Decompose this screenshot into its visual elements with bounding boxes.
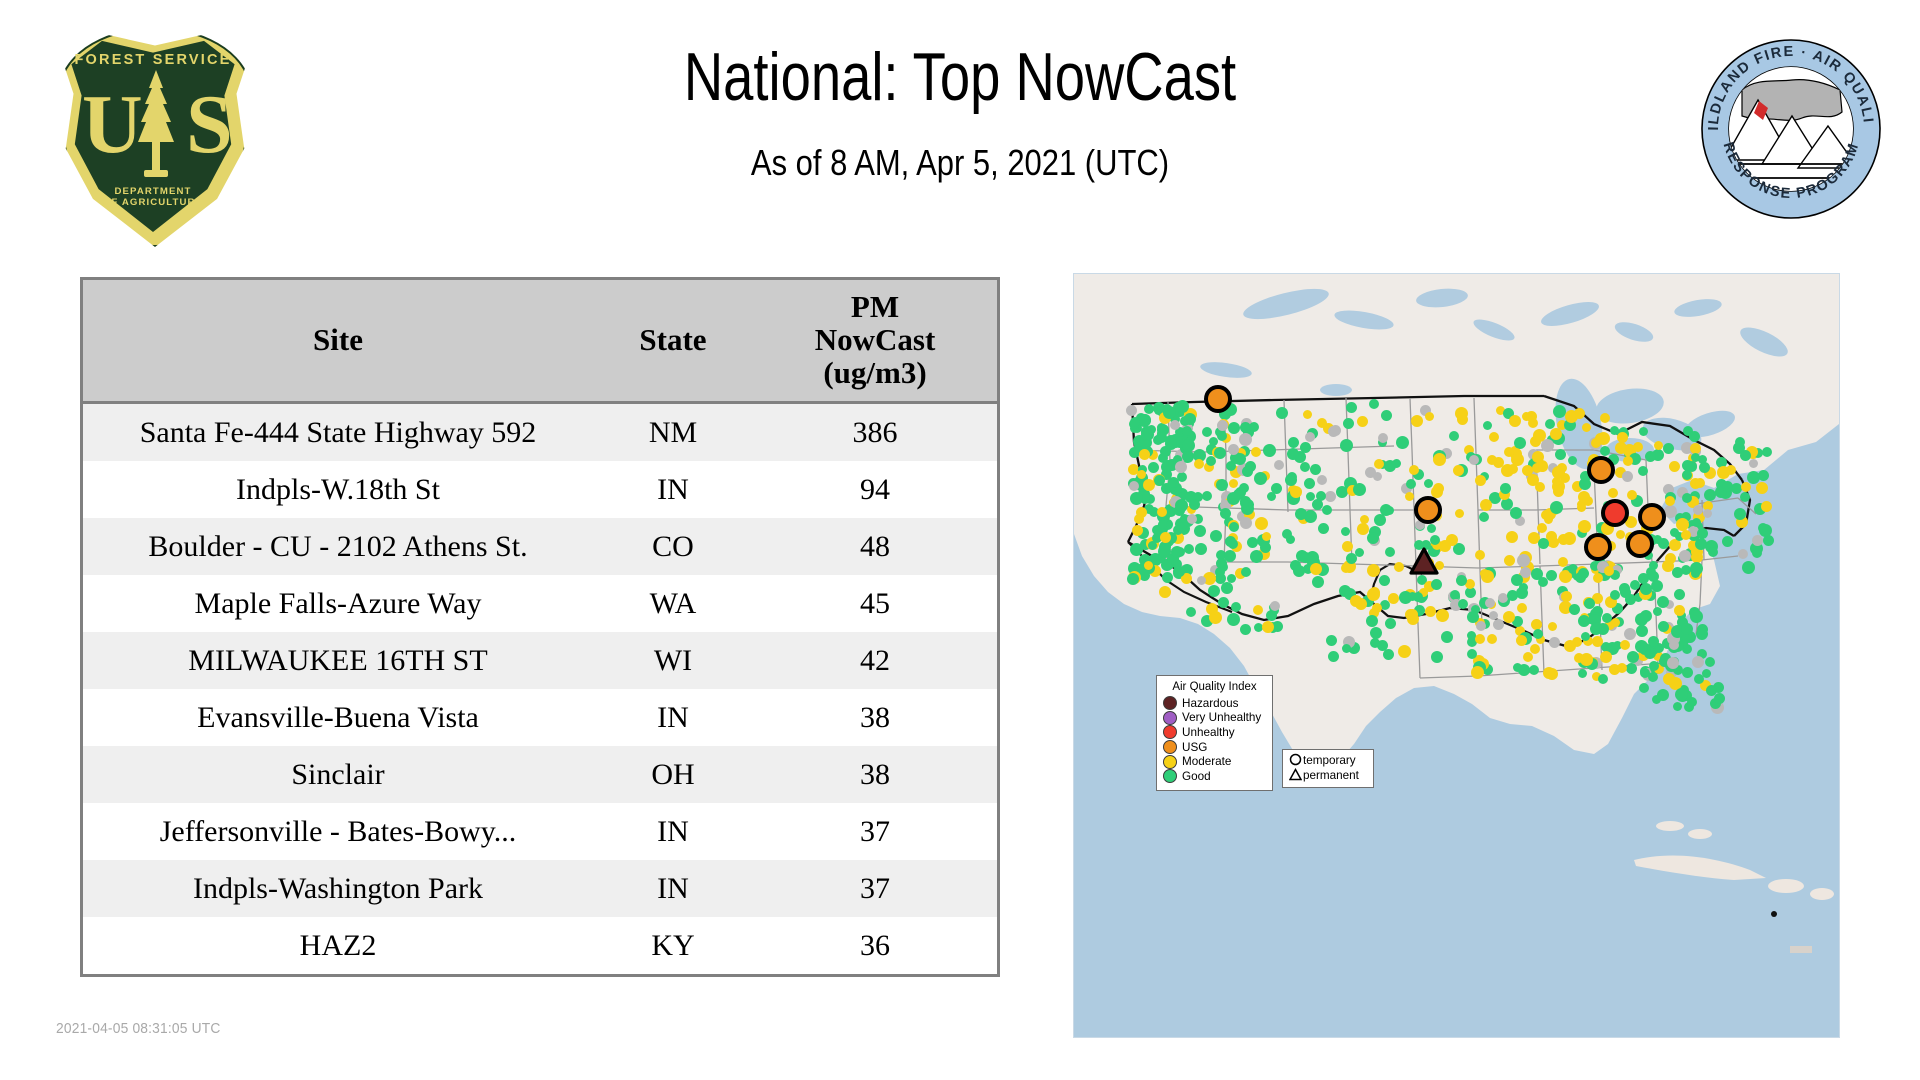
aqi-monitor-dot [1487,634,1497,644]
aqi-monitor-dot [1174,566,1185,577]
aqi-monitor-dot [1425,606,1436,617]
table-row: Jeffersonville - Bates-Bowy...IN37 [83,803,997,860]
aqi-monitor-dot [1385,618,1396,629]
aqi-monitor-dot [1227,492,1240,505]
aqi-monitor-dot [1568,456,1577,465]
aqi-monitor-dot [1187,514,1197,524]
pm-header-line-1: PM [851,289,899,324]
aqi-monitor-dot [1184,544,1194,554]
cell-site: Indpls-Washington Park [83,860,593,917]
aqi-monitor-dot [1154,475,1165,486]
aqi-monitor-dot [1197,576,1206,585]
aqi-monitor-dot [1379,575,1390,586]
aqi-legend-label: Good [1182,770,1211,783]
aqi-monitor-dot [1366,615,1378,627]
aqi-monitor-dot [1549,637,1560,648]
aqi-monitor-dot [1649,561,1658,570]
map-basemap [1074,274,1839,1037]
aqi-monitor-dot [1202,427,1212,437]
table-row: Indpls-Washington ParkIN37 [83,860,997,917]
cell-site: Evansville-Buena Vista [83,689,593,746]
aqi-monitor-dot [1502,500,1511,509]
usfs-forest-service-logo: FOREST SERVICE U S DEPARTMENT OF AGRICUL… [58,28,248,243]
aqi-monitor-dot [1593,573,1603,583]
highlighted-site-marker-circle[interactable] [1587,456,1615,484]
cell-pm: 37 [753,803,997,860]
aqi-monitor-dot [1553,405,1566,418]
aqi-monitor-dot [1346,402,1357,413]
cell-pm: 38 [753,689,997,746]
aqi-monitor-dot [1300,442,1311,453]
aqi-monitor-dot [1453,465,1464,476]
table-row: SinclairOH38 [83,746,997,803]
aqi-monitor-dot [1546,570,1557,581]
aqi-monitor-dot [1658,621,1669,632]
cell-site: Boulder - CU - 2102 Athens St. [83,518,593,575]
aqi-monitor-dot [1704,489,1716,501]
aqi-monitor-dot [1317,475,1327,485]
aqi-monitor-dot [1127,573,1139,585]
aqi-monitor-dot [1247,537,1258,548]
circle-icon [1288,753,1303,769]
aqi-legend-label: Moderate [1182,755,1231,768]
aqi-monitor-dot [1195,543,1207,555]
aqi-monitor-dot [1182,426,1192,436]
aqi-monitor-dot [1218,597,1229,608]
aqi-monitor-dot [1228,422,1240,434]
aqi-monitor-dot [1510,507,1522,519]
aqi-monitor-dot [1514,437,1526,449]
aqi-monitor-dot [1640,583,1652,595]
aqi-monitor-dot [1240,517,1252,529]
aqi-legend-item: Moderate [1163,754,1266,769]
aqi-monitor-dot [1714,693,1725,704]
aqi-legend-label: USG [1182,741,1207,754]
aqi-monitor-dot [1431,579,1442,590]
aqi-monitor-dot [1267,492,1276,501]
aqi-monitor-dot [1132,525,1143,536]
aqi-monitor-dot [1517,603,1527,613]
aqi-monitor-dot [1159,586,1171,598]
aqi-monitor-dot [1449,431,1459,441]
shield-letter-s: S [186,83,233,167]
shield-arc-top-text: FOREST SERVICE [58,52,248,68]
aqi-monitor-dot [1620,640,1630,650]
aqi-monitor-dot [1558,557,1568,567]
aqi-monitor-dot [1691,551,1703,563]
aqi-monitor-dot [1625,594,1636,605]
triangle-icon [1288,768,1303,784]
column-header-state: State [593,280,753,403]
aqi-monitor-dot [1645,451,1656,462]
aqi-monitor-dot [1317,418,1327,428]
scale-bar [1790,946,1812,953]
pm-header-line-2: NowCast [815,322,936,357]
page-title: National: Top NowCast [576,38,1344,116]
aqi-monitor-dot [1752,548,1762,558]
aqi-monitor-dot [1503,611,1515,623]
aqi-monitor-dot [1682,460,1693,471]
aqi-swatch-icon [1163,725,1177,739]
aqi-monitor-dot [1759,524,1772,537]
table-row: Indpls-W.18th StIN94 [83,461,997,518]
aqi-monitor-dot [1143,479,1155,491]
aqi-monitor-dot [1458,599,1468,609]
aqi-monitor-dot [1469,455,1479,465]
aqi-monitor-dot [1682,493,1692,503]
aqi-monitor-dot [1669,461,1680,472]
aqi-monitor-dot [1480,569,1489,578]
aqi-monitor-dot [1697,624,1708,635]
aqi-monitor-dot [1251,447,1261,457]
site-type-legend-rows: temporarypermanent [1288,753,1368,783]
aqi-monitor-dot [1749,459,1758,468]
table-row: HAZ2KY36 [83,917,997,974]
cell-pm: 42 [753,632,997,689]
aqi-legend-rows: HazardousVery UnhealthyUnhealthyUSGModer… [1163,696,1266,784]
aqi-monitor-dot [1340,439,1353,452]
aqi-monitor-dot [1564,640,1576,652]
cell-pm: 36 [753,917,997,974]
site-type-legend-item: temporary [1288,753,1368,768]
aqi-monitor-dot [1148,541,1157,550]
aqi-monitor-dot [1600,413,1610,423]
aqi-monitor-dot [1160,532,1171,543]
site-type-legend-item: permanent [1288,768,1368,783]
pine-tree-icon [136,70,176,182]
pm-header-line-3: (ug/m3) [823,355,926,390]
aqi-monitor-dot [1262,532,1271,541]
aqi-monitor-dot [1253,605,1263,615]
page-subtitle: As of 8 AM, Apr 5, 2021 (UTC) [547,142,1373,184]
shield-arc-bottom-text: DEPARTMENT OF AGRICULTURE [58,186,248,208]
cell-site: Jeffersonville - Bates-Bowy... [83,803,593,860]
cell-site: MILWAUKEE 16TH ST [83,632,593,689]
aqi-monitor-dot [1602,613,1612,623]
aqi-monitor-dot [1487,455,1497,465]
shield-letter-u: U [82,83,143,167]
aqi-monitor-dot [1578,520,1591,533]
cell-site: Indpls-W.18th St [83,461,593,518]
aqi-monitor-dot [1357,416,1368,427]
aqi-monitor-dot [1698,455,1707,464]
aqi-monitor-dot [1548,622,1557,631]
aqi-monitor-dot [1687,697,1697,707]
aqi-monitor-dot [1703,509,1712,518]
aqi-monitor-dot [1658,538,1669,549]
aqi-legend-label: Hazardous [1182,697,1239,710]
aqi-monitor-dot [1217,420,1228,431]
aqi-monitor-dot [1405,492,1414,501]
aqi-monitor-dot [1633,442,1643,452]
aqi-monitor-dot [1635,640,1648,653]
highlighted-site-marker-circle[interactable] [1626,530,1654,558]
cell-pm: 45 [753,575,997,632]
aqi-monitor-dot [1303,410,1312,419]
aqi-monitor-dot [1328,651,1339,662]
aqi-monitor-dot [1537,523,1547,533]
aqi-monitor-dot [1717,466,1730,479]
top-nowcast-table: Site State PM NowCast (ug/m3) Santa Fe-4… [83,280,997,974]
aqi-monitor-dot [1653,607,1662,616]
island-marker [1771,911,1777,917]
aqi-monitor-dot [1608,488,1618,498]
highlighted-site-marker-triangle[interactable] [1409,547,1439,575]
aqi-monitor-dot [1318,523,1329,534]
cell-state: KY [593,917,753,974]
aqi-monitor-dot [1285,474,1297,486]
aqi-monitor-dot [1165,438,1177,450]
aqi-monitor-dot [1360,515,1369,524]
aqi-monitor-dot [1255,517,1268,530]
aqi-monitor-dot [1424,479,1433,488]
aqi-monitor-dot [1228,539,1238,549]
aqi-monitor-dot [1341,563,1351,573]
aqi-monitor-dot [1130,543,1143,556]
aqi-monitor-dot [1516,635,1527,646]
cell-state: IN [593,461,753,518]
cell-state: IN [593,860,753,917]
aqi-monitor-dot [1173,525,1183,535]
cell-state: NM [593,403,753,462]
aqi-monitor-dot [1479,512,1489,522]
highlighted-site-marker-circle[interactable] [1601,499,1629,527]
table-body: Santa Fe-444 State Highway 592NM386Indpl… [83,403,997,975]
aqi-monitor-dot [1676,518,1689,531]
title-block: National: Top NowCast As of 8 AM, Apr 5,… [480,38,1440,184]
aqi-legend-label: Very Unhealthy [1182,711,1261,724]
aqi-monitor-dot [1343,418,1354,429]
aqi-swatch-icon [1163,696,1177,710]
aqi-monitor-dot [1194,459,1204,469]
aqi-monitor-dot [1538,462,1548,472]
cell-state: OH [593,746,753,803]
aqi-monitor-dot [1648,571,1659,582]
highlighted-site-marker-circle[interactable] [1638,503,1666,531]
aqi-monitor-dot [1270,601,1280,611]
aqi-monitor-dot [1175,461,1187,473]
aqi-monitor-dot [1517,554,1530,567]
aqi-monitor-dot [1325,491,1336,502]
aqi-monitor-dot [1722,481,1733,492]
aqi-monitor-dot [1654,441,1663,450]
national-aqi-map[interactable]: Air Quality Index HazardousVery Unhealth… [1073,273,1840,1038]
aqi-monitor-dot [1455,509,1464,518]
aqi-monitor-dot [1163,406,1176,419]
aqi-monitor-dot [1741,482,1751,492]
aqi-monitor-dot [1372,603,1382,613]
aqi-monitor-dot [1130,492,1143,505]
aqi-legend-item: Hazardous [1163,696,1266,711]
aqi-monitor-dot [1598,674,1608,684]
aqi-monitor-dot [1456,575,1467,586]
aqi-monitor-dot [1274,460,1284,470]
aqi-monitor-dot [1483,421,1492,430]
aqi-monitor-dot [1439,540,1451,552]
aqi-monitor-dot [1158,453,1168,463]
aqi-monitor-dot [1206,603,1218,615]
aqi-monitor-dot [1388,593,1399,604]
aqi-monitor-dot [1734,508,1746,520]
aqi-monitor-dot [1523,652,1533,662]
aqi-legend-item: Very Unhealthy [1163,711,1266,726]
column-header-pm-nowcast: PM NowCast (ug/m3) [753,280,997,403]
aqi-monitor-dot [1507,590,1518,601]
aqi-monitor-dot [1555,449,1566,460]
cell-site: Maple Falls-Azure Way [83,575,593,632]
aqi-monitor-dot [1624,628,1636,640]
aqi-monitor-dot [1610,590,1620,600]
aqi-monitor-dot [1350,595,1362,607]
aqi-monitor-dot [1756,482,1768,494]
site-type-legend-label: temporary [1303,754,1356,767]
aqi-swatch-icon [1163,740,1177,754]
aqi-legend-title: Air Quality Index [1163,681,1266,693]
aqi-monitor-dot [1623,456,1633,466]
aqi-monitor-dot [1330,425,1341,436]
aqi-monitor-dot [1228,444,1239,455]
aqi-monitor-dot [1673,702,1682,711]
aqi-monitor-dot [1241,567,1251,577]
aqi-monitor-dot [1578,615,1590,627]
table-header-row: Site State PM NowCast (ug/m3) [83,280,997,403]
aqi-monitor-dot [1533,429,1546,442]
cell-pm: 37 [753,860,997,917]
aqi-monitor-dot [1175,499,1188,512]
aqi-monitor-dot [1189,499,1200,510]
aqi-monitor-dot [1353,483,1366,496]
cell-site: Sinclair [83,746,593,803]
aqi-monitor-dot [1231,602,1241,612]
aqi-monitor-dot [1433,483,1444,494]
aqi-monitor-dot [1690,610,1703,623]
aqi-monitor-dot [1206,456,1216,466]
aqi-monitor-dot [1367,588,1380,601]
aqi-monitor-dot [1626,663,1637,674]
site-type-legend: temporarypermanent [1282,749,1374,788]
top-nowcast-table-container: Site State PM NowCast (ug/m3) Santa Fe-4… [80,277,1000,977]
aqi-monitor-dot [1663,443,1674,454]
table-row: Santa Fe-444 State Highway 592NM386 [83,403,997,462]
column-header-site: Site [83,280,593,403]
table-row: Maple Falls-Azure WayWA45 [83,575,997,632]
cell-state: IN [593,803,753,860]
aqi-monitor-dot [1592,636,1603,647]
cell-state: IN [593,689,753,746]
cell-pm: 386 [753,403,997,462]
cell-state: WI [593,632,753,689]
aqi-monitor-dot [1427,524,1436,533]
aqi-monitor-dot [1433,453,1446,466]
aqi-monitor-dot [1665,496,1675,506]
site-type-legend-label: permanent [1303,769,1359,782]
generated-timestamp: 2021-04-05 08:31:05 UTC [56,1020,221,1037]
aqi-monitor-dot [1581,632,1590,641]
aqi-monitor-dot [1239,483,1249,493]
aqi-monitor-dot [1341,527,1350,536]
aqi-monitor-dot [1240,624,1251,635]
highlighted-site-marker-circle[interactable] [1584,533,1612,561]
aqi-monitor-dot [1430,535,1440,545]
aqi-monitor-dot [1305,432,1315,442]
aqi-monitor-dot [1672,567,1683,578]
aqi-legend: Air Quality Index HazardousVery Unhealth… [1156,675,1273,791]
aqi-monitor-dot [1373,472,1382,481]
aqi-monitor-dot [1342,541,1353,552]
aqi-monitor-dot [1622,471,1633,482]
aqi-monitor-dot [1182,451,1193,462]
aqi-swatch-icon [1163,755,1177,769]
aqi-monitor-dot [1552,466,1565,479]
aqi-monitor-dot [1157,507,1167,517]
aqi-swatch-icon [1163,711,1177,725]
aqi-monitor-dot [1383,649,1394,660]
aqi-monitor-dot [1695,478,1705,488]
aqi-monitor-dot [1374,459,1384,469]
aqi-monitor-dot [1617,663,1627,673]
aqi-monitor-dot [1144,561,1153,570]
aqi-monitor-dot [1210,530,1222,542]
aqi-monitor-dot [1396,436,1409,449]
aqi-monitor-dot [1705,657,1715,667]
cell-site: HAZ2 [83,917,593,974]
aqi-monitor-dot [1249,422,1259,432]
aqi-monitor-dot [1545,419,1555,429]
aqi-monitor-dot [1370,627,1382,639]
aqi-monitor-dot [1240,499,1249,508]
aqi-monitor-dot [1638,573,1649,584]
table-row: Evansville-Buena VistaIN38 [83,689,997,746]
aqi-monitor-dot [1679,550,1691,562]
aqi-monitor-dot [1550,501,1563,514]
aqi-monitor-dot [1288,437,1299,448]
aqi-monitor-dot [1615,442,1627,454]
aqi-monitor-dot [1182,439,1195,452]
aqi-monitor-dot [1657,596,1669,608]
cell-state: CO [593,518,753,575]
aqi-monitor-dot [1263,444,1276,457]
aqi-legend-label: Unhealthy [1182,726,1235,739]
aqi-monitor-dot [1300,462,1310,472]
aqi-monitor-dot [1674,605,1685,616]
wfaqrp-logo: WILDLAND FIRE · AIR QUALITY RESPONSE PRO… [1700,38,1882,220]
aqi-legend-item: Good [1163,769,1266,784]
aqi-monitor-dot [1216,479,1228,491]
aqi-monitor-dot [1563,532,1576,545]
cell-pm: 38 [753,746,997,803]
aqi-monitor-dot [1475,475,1486,486]
aqi-monitor-dot [1591,622,1602,633]
highlighted-site-marker-circle[interactable] [1414,496,1442,524]
aqi-monitor-dot [1436,609,1449,622]
aqi-monitor-dot [1171,546,1183,558]
aqi-monitor-dot [1217,431,1227,441]
aqi-monitor-dot [1652,695,1661,704]
cell-state: WA [593,575,753,632]
aqi-monitor-dot [1663,673,1675,685]
highlighted-site-marker-circle[interactable] [1204,385,1232,413]
aqi-monitor-dot [1669,640,1679,650]
aqi-monitor-dot [1295,508,1307,520]
aqi-monitor-dot [1139,449,1150,460]
aqi-monitor-dot [1355,548,1364,557]
aqi-monitor-dot [1287,448,1299,460]
aqi-monitor-dot [1681,623,1693,635]
aqi-legend-item: Unhealthy [1163,725,1266,740]
cell-site: Santa Fe-444 State Highway 592 [83,403,593,462]
aqi-monitor-dot [1465,579,1475,589]
aqi-legend-item: USG [1163,740,1266,755]
